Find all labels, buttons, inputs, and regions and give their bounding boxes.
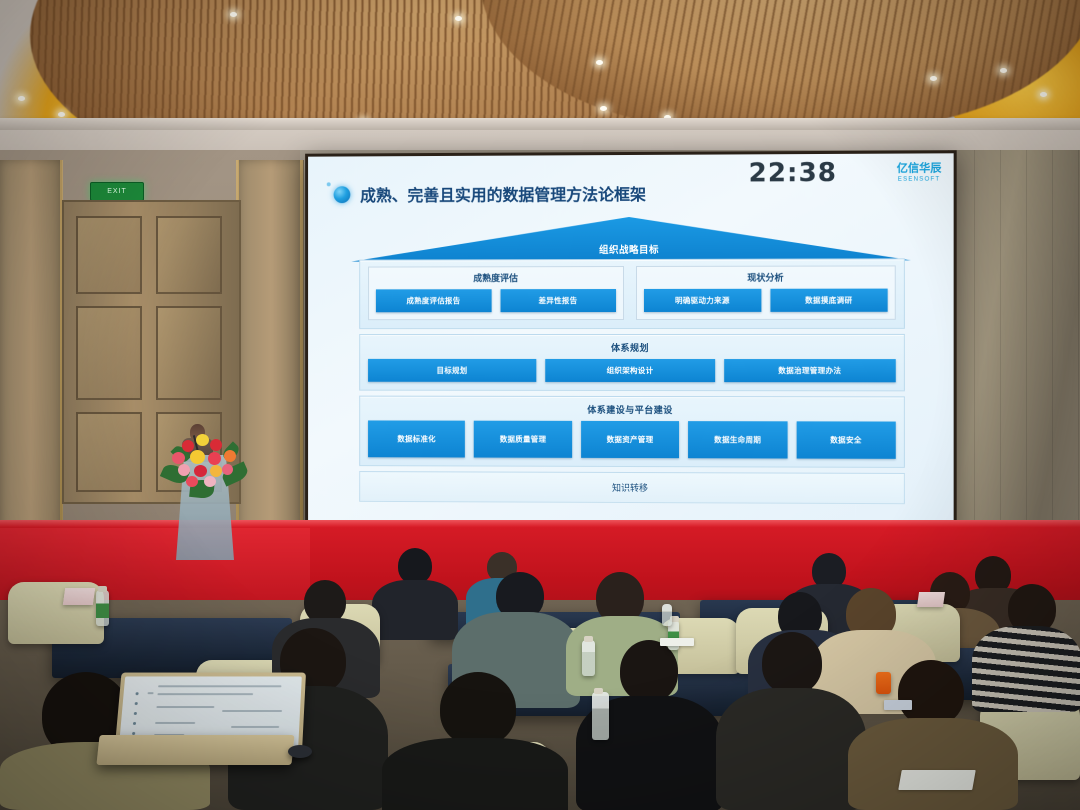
chip-row: 数据标准化 数据质量管理 数据资产管理 数据生命周期 数据安全	[368, 420, 896, 458]
flower	[204, 476, 216, 487]
flower	[196, 434, 209, 446]
paper-sheet	[660, 638, 694, 646]
band-system-construction: 体系建设与平台建设 数据标准化 数据质量管理 数据资产管理 数据生命周期 数据安…	[359, 396, 905, 468]
brand-logo-en: ESENSOFT	[897, 177, 942, 183]
presentation-slide: 22:38 亿信华辰 ESENSOFT 成熟、完善且实用的数据管理方法论框架 组…	[308, 153, 954, 536]
chip-item[interactable]: 差异性报告	[500, 289, 616, 312]
downlight-icon	[18, 96, 25, 101]
paper-sheet	[898, 770, 976, 790]
chip-row: 目标规划 组织架构设计 数据治理管理办法	[368, 359, 896, 382]
water-bottle[interactable]	[96, 590, 109, 626]
chip-item[interactable]: 数据安全	[796, 421, 896, 458]
group-title: 现状分析	[644, 270, 888, 284]
name-placard	[63, 588, 95, 605]
chip-item[interactable]: 成熟度评估报告	[376, 289, 491, 312]
flower	[224, 450, 236, 462]
stage-front-edge	[0, 520, 1080, 527]
downlight-icon	[930, 76, 937, 81]
band-assessment: 成熟度评估 成熟度评估报告 差异性报告 现状分析 明确驱动力来源	[359, 258, 905, 329]
flower	[190, 450, 205, 464]
group-maturity-assessment: 成熟度评估 成熟度评估报告 差异性报告	[368, 266, 624, 320]
chip-item[interactable]: 数据资产管理	[581, 421, 679, 458]
slide-title-row: 成熟、完善且实用的数据管理方法论框架	[334, 181, 646, 206]
chip-item[interactable]: 数据治理管理办法	[724, 359, 896, 382]
downlight-icon	[600, 106, 607, 111]
flower	[182, 440, 194, 452]
pyramid-apex: 组织战略目标	[351, 216, 911, 262]
wall-marble-right	[948, 150, 1080, 580]
group-title: 成熟度评估	[376, 271, 616, 284]
paper-sheet	[884, 700, 912, 710]
flower	[194, 465, 207, 477]
downlight-icon	[596, 60, 603, 65]
apex-label: 组织战略目标	[351, 241, 911, 256]
group-row: 成熟度评估 成熟度评估报告 差异性报告 现状分析 明确驱动力来源	[368, 265, 896, 320]
chip-row: 成熟度评估报告 差异性报告	[376, 289, 616, 312]
chip-item[interactable]: 组织架构设计	[545, 359, 715, 382]
wall-panel	[0, 160, 62, 580]
bullet-sphere-icon	[334, 186, 351, 203]
wall-panel	[238, 160, 304, 560]
chip-item[interactable]: 数据质量管理	[474, 421, 572, 458]
chip-item[interactable]: 数据标准化	[368, 420, 465, 457]
door-panel	[156, 306, 222, 400]
flower	[178, 464, 190, 476]
flower	[210, 465, 222, 477]
slide-title: 成熟、完善且实用的数据管理方法论框架	[360, 181, 646, 206]
projection-screen: 22:38 亿信华辰 ESENSOFT 成熟、完善且实用的数据管理方法论框架 组…	[305, 150, 957, 539]
chip-item[interactable]: 明确驱动力来源	[644, 289, 761, 312]
band-title: 体系建设与平台建设	[368, 403, 896, 417]
downlight-icon	[455, 16, 462, 21]
flower	[222, 464, 233, 475]
wall-gold-strip	[300, 160, 303, 560]
downlight-icon	[1040, 92, 1047, 97]
downlight-icon	[1000, 68, 1007, 73]
chip-item[interactable]: 数据摸底调研	[770, 289, 888, 312]
downlight-icon	[230, 12, 237, 17]
brand-logo: 亿信华辰 ESENSOFT	[897, 163, 942, 182]
door-panel	[76, 306, 142, 400]
water-bottle[interactable]	[582, 640, 595, 676]
brand-logo-cn: 亿信华辰	[897, 163, 942, 174]
flower	[186, 476, 198, 487]
slide-clock: 22:38	[749, 158, 837, 189]
door-panel	[156, 216, 222, 294]
chip-item[interactable]: 数据生命周期	[688, 421, 787, 458]
water-bottle[interactable]	[592, 692, 609, 740]
methodology-stack: 成熟度评估 成熟度评估报告 差异性报告 现状分析 明确驱动力来源	[359, 258, 905, 504]
soda-can[interactable]	[876, 672, 891, 694]
name-placard	[917, 592, 945, 607]
conference-room-photo: EXIT 22:38 亿信华辰 ESENSOFT 成熟、完善且实用的数据管理方法…	[0, 0, 1080, 810]
flower	[208, 452, 221, 465]
door-panel	[76, 216, 142, 294]
band-system-planning: 体系规划 目标规划 组织架构设计 数据治理管理办法	[359, 334, 905, 391]
flower-arrangement	[160, 432, 250, 494]
slide-surface: 22:38 亿信华辰 ESENSOFT 成熟、完善且实用的数据管理方法论框架 组…	[308, 153, 954, 536]
chip-item[interactable]: 目标规划	[368, 359, 536, 382]
laptop-keyboard[interactable]	[96, 735, 294, 765]
water-bottle[interactable]	[662, 604, 672, 626]
band-knowledge-transfer: 知识转移	[359, 471, 905, 504]
downlight-icon	[58, 112, 65, 117]
computer-mouse[interactable]	[288, 745, 312, 758]
chip-row: 明确驱动力来源 数据摸底调研	[644, 289, 888, 312]
band-title: 体系规划	[368, 341, 896, 354]
exit-sign: EXIT	[90, 182, 144, 201]
flower	[210, 439, 222, 451]
flower	[172, 452, 185, 464]
door-panel	[76, 412, 142, 492]
group-current-state-analysis: 现状分析 明确驱动力来源 数据摸底调研	[636, 265, 896, 320]
exit-sign-label: EXIT	[91, 183, 143, 200]
